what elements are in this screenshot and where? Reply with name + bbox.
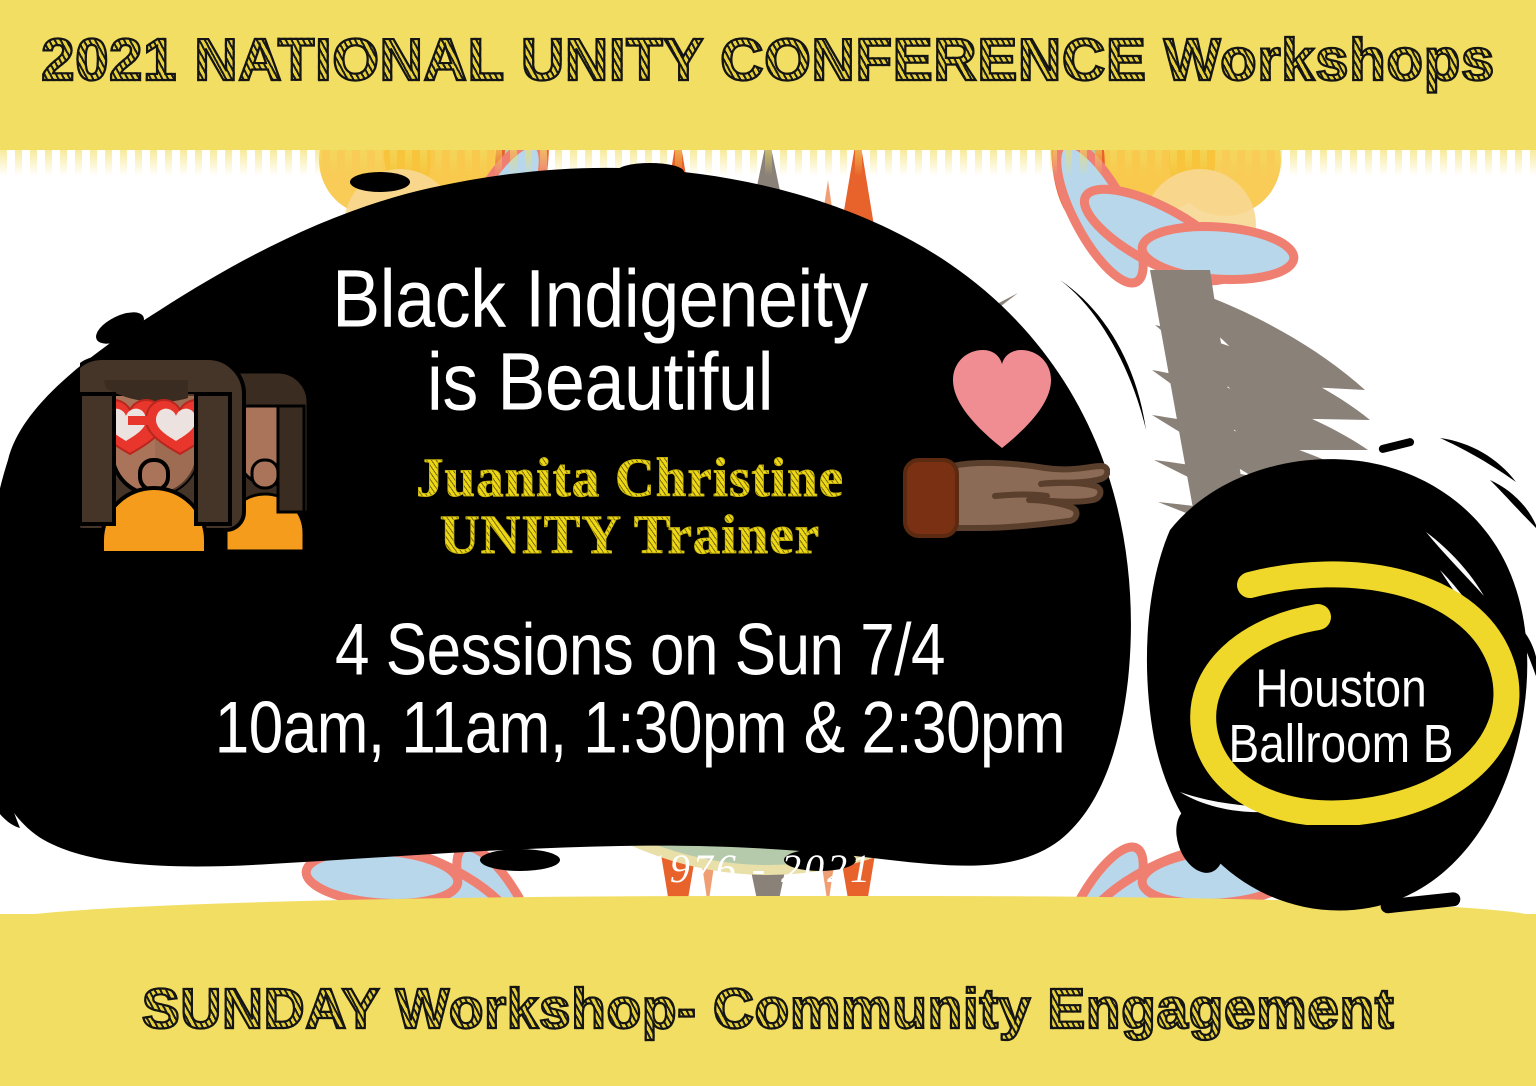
presenter-block: Juanita Christine UNITY Trainer xyxy=(200,450,1060,563)
page-footer-title: SUNDAY Workshop- Community Engagement xyxy=(0,976,1536,1042)
session-times: 10am, 11am, 1:30pm & 2:30pm xyxy=(140,690,1140,768)
poster-canvas: 2021 NATIONAL UNITY CONFERENCE Workshops… xyxy=(0,0,1536,1086)
workshop-title: Black Indigeneity is Beautiful xyxy=(160,258,1040,425)
anniversary-years: 1976 - 2021 xyxy=(590,845,930,892)
workshop-title-line1: Black Indigeneity xyxy=(160,258,1040,342)
session-schedule: 4 Sessions on Sun 7/4 10am, 11am, 1:30pm… xyxy=(140,612,1140,769)
room-location: Houston Ballroom B xyxy=(1216,660,1466,772)
presenter-name: Juanita Christine xyxy=(200,450,1060,507)
room-city: Houston xyxy=(1216,660,1466,716)
presenter-role: UNITY Trainer xyxy=(200,507,1060,564)
workshop-title-line2: is Beautiful xyxy=(160,342,1040,426)
session-count-date: 4 Sessions on Sun 7/4 xyxy=(140,612,1140,690)
room-name: Ballroom B xyxy=(1216,716,1466,772)
page-header-title: 2021 NATIONAL UNITY CONFERENCE Workshops xyxy=(0,26,1536,94)
